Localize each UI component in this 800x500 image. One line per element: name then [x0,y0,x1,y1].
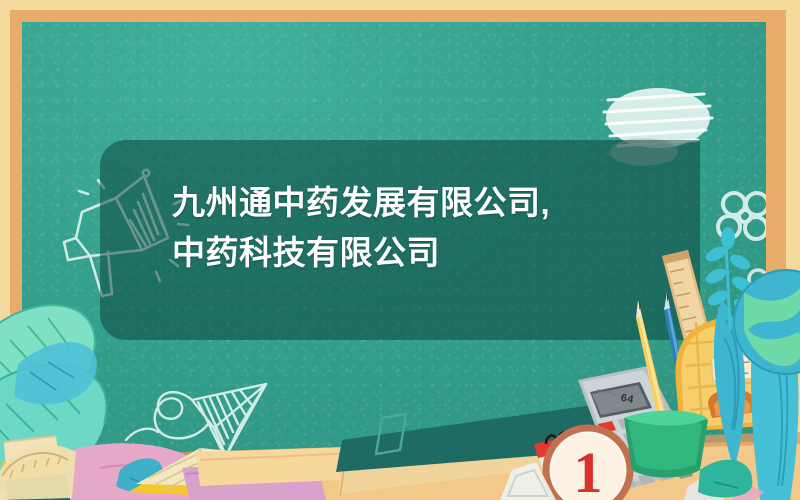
page-title: 九州通中药发展有限公司, 中药科技有限公司 [172,178,692,278]
banner-image: 九州通中药发展有限公司, 中药科技有限公司 [0,0,800,500]
